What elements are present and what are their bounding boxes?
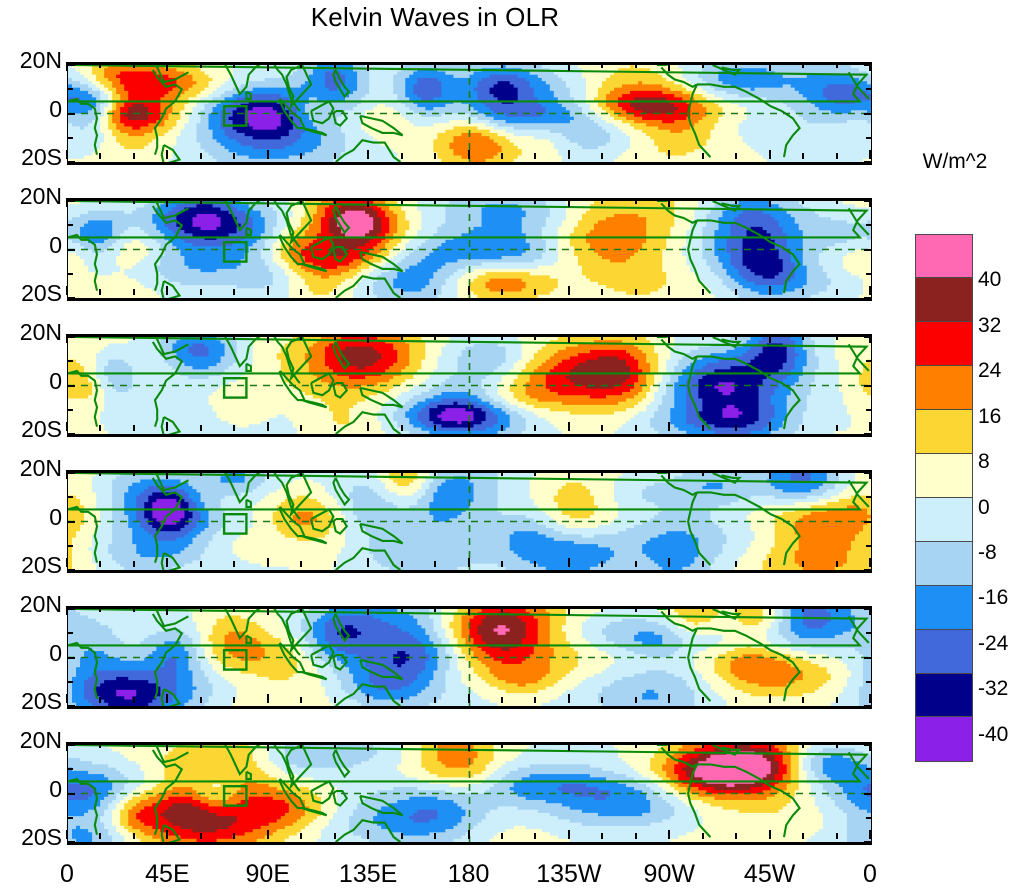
xtick-bottom bbox=[635, 289, 637, 295]
xtick-top bbox=[468, 62, 470, 71]
xtick-bottom bbox=[468, 422, 470, 431]
colorbar-swatch[interactable] bbox=[915, 365, 973, 410]
ytick-left bbox=[68, 249, 75, 251]
xtick-top bbox=[534, 742, 536, 748]
xtick-bottom bbox=[836, 561, 838, 567]
colorbar-ticklabel: -8 bbox=[978, 541, 997, 565]
xtick-top bbox=[668, 606, 670, 615]
xtick-top bbox=[334, 334, 336, 340]
xtick-top bbox=[133, 470, 135, 476]
xtick-top bbox=[501, 470, 503, 476]
xtick-bottom bbox=[300, 425, 302, 431]
ytick-right bbox=[864, 161, 871, 163]
xtick-top bbox=[434, 334, 436, 340]
y-axis-ticklabels-5: 20N020S bbox=[0, 606, 62, 703]
xtick-bottom bbox=[668, 422, 670, 431]
ytick-left bbox=[68, 657, 75, 659]
xtick-top bbox=[233, 198, 235, 204]
xtick-bottom bbox=[468, 286, 470, 295]
panel-plot-2 bbox=[67, 198, 872, 301]
xtick-top bbox=[401, 198, 403, 204]
figure-canvas: Kelvin Waves in OLR 045E90E135E180135W90… bbox=[0, 0, 1021, 887]
xtick-bottom bbox=[233, 561, 235, 567]
xtick-top bbox=[133, 742, 135, 748]
xtick-top bbox=[668, 470, 670, 479]
xtick-top bbox=[635, 198, 637, 204]
xtick-top bbox=[601, 198, 603, 204]
ytick-left bbox=[68, 521, 75, 523]
ytick-left bbox=[68, 64, 75, 66]
xtick-top bbox=[99, 62, 101, 68]
ytick-right-minor bbox=[866, 137, 871, 139]
xtick-top bbox=[869, 606, 871, 615]
xtick-bottom bbox=[434, 153, 436, 159]
xtick-top bbox=[501, 742, 503, 748]
xtick-top bbox=[668, 198, 670, 207]
xtick-top bbox=[401, 334, 403, 340]
xtick-top bbox=[534, 198, 536, 204]
map-panel-6 bbox=[67, 718, 870, 839]
xtick-top bbox=[635, 470, 637, 476]
xtick-bottom bbox=[233, 697, 235, 703]
xtick-bottom bbox=[601, 833, 603, 839]
ytick-left bbox=[68, 161, 75, 163]
xtick-top bbox=[769, 606, 771, 615]
ytick-left-minor bbox=[68, 545, 73, 547]
map-panel-4 bbox=[67, 446, 870, 567]
xtick-top bbox=[534, 62, 536, 68]
ytick-right-minor bbox=[866, 88, 871, 90]
ytick-left bbox=[68, 200, 75, 202]
xtick-top bbox=[735, 62, 737, 68]
ytick-left bbox=[68, 336, 75, 338]
ytick-left-minor bbox=[68, 88, 73, 90]
xtick-bottom bbox=[233, 425, 235, 431]
xtick-top bbox=[166, 606, 168, 615]
xtick-bottom bbox=[99, 289, 101, 295]
panel-header-1 bbox=[67, 37, 870, 63]
ytick-left bbox=[68, 793, 75, 795]
xtick-bottom bbox=[267, 422, 269, 431]
xtick-bottom bbox=[300, 153, 302, 159]
xtick-bottom bbox=[99, 153, 101, 159]
xtick-top bbox=[300, 606, 302, 612]
xtick-bottom bbox=[99, 425, 101, 431]
xtick-bottom bbox=[267, 558, 269, 567]
ytick-right bbox=[864, 385, 871, 387]
panel-plot-3 bbox=[67, 334, 872, 437]
y-ticklabel: 20N bbox=[20, 455, 62, 482]
x-ticklabel: 45E bbox=[145, 860, 189, 889]
y-axis-ticklabels-3: 20N020S bbox=[0, 334, 62, 431]
ytick-right-minor bbox=[866, 632, 871, 634]
y-ticklabel: 0 bbox=[49, 504, 62, 531]
xtick-bottom bbox=[233, 289, 235, 295]
xtick-top bbox=[99, 606, 101, 612]
xtick-top bbox=[802, 470, 804, 476]
xtick-bottom bbox=[267, 694, 269, 703]
y-axis-ticklabels-6: 20N020S bbox=[0, 742, 62, 839]
x-ticklabel: 180 bbox=[448, 860, 490, 889]
xtick-top bbox=[668, 742, 670, 751]
xtick-bottom bbox=[668, 830, 670, 839]
xtick-bottom bbox=[869, 558, 871, 567]
xtick-bottom bbox=[869, 694, 871, 703]
xtick-bottom bbox=[568, 558, 570, 567]
xtick-top bbox=[501, 334, 503, 340]
xtick-bottom bbox=[367, 558, 369, 567]
xtick-bottom bbox=[501, 561, 503, 567]
xtick-bottom bbox=[200, 833, 202, 839]
colorbar-ticklabel: -16 bbox=[978, 586, 1008, 610]
panel-header-4 bbox=[67, 445, 870, 471]
ytick-left-minor bbox=[68, 137, 73, 139]
y-ticklabel: 20N bbox=[20, 591, 62, 618]
y-ticklabel: 20S bbox=[21, 280, 62, 307]
xtick-bottom bbox=[66, 830, 68, 839]
xtick-bottom bbox=[66, 422, 68, 431]
xtick-bottom bbox=[735, 153, 737, 159]
xtick-bottom bbox=[133, 153, 135, 159]
map-panel-5 bbox=[67, 582, 870, 703]
xtick-bottom bbox=[334, 697, 336, 703]
y-axis-ticklabels-1: 20N020S bbox=[0, 62, 62, 159]
xtick-top bbox=[702, 742, 704, 748]
xtick-top bbox=[233, 470, 235, 476]
ytick-right bbox=[864, 569, 871, 571]
xtick-bottom bbox=[568, 286, 570, 295]
ytick-right bbox=[864, 297, 871, 299]
xtick-bottom bbox=[200, 153, 202, 159]
xtick-top bbox=[267, 606, 269, 615]
xtick-top bbox=[802, 62, 804, 68]
xtick-bottom bbox=[468, 558, 470, 567]
xtick-bottom bbox=[166, 286, 168, 295]
ytick-left bbox=[68, 744, 75, 746]
xtick-bottom bbox=[401, 833, 403, 839]
xtick-top bbox=[869, 198, 871, 207]
xtick-top bbox=[267, 742, 269, 751]
xtick-bottom bbox=[735, 833, 737, 839]
xtick-top bbox=[635, 334, 637, 340]
xtick-bottom bbox=[702, 425, 704, 431]
ytick-right-minor bbox=[866, 273, 871, 275]
xtick-bottom bbox=[401, 425, 403, 431]
xtick-bottom bbox=[434, 425, 436, 431]
xtick-top bbox=[401, 62, 403, 68]
xtick-top bbox=[568, 198, 570, 207]
xtick-bottom bbox=[401, 289, 403, 295]
xtick-top bbox=[367, 198, 369, 207]
xtick-top bbox=[233, 334, 235, 340]
colorbar-swatch[interactable] bbox=[915, 234, 973, 279]
xtick-bottom bbox=[534, 833, 536, 839]
y-ticklabel: 20S bbox=[21, 144, 62, 171]
colorbar-ticklabel: -32 bbox=[978, 677, 1008, 701]
xtick-top bbox=[769, 334, 771, 343]
colorbar-swatch[interactable] bbox=[915, 673, 973, 718]
xtick-top bbox=[668, 334, 670, 343]
xtick-top bbox=[869, 334, 871, 343]
colorbar-swatch[interactable] bbox=[915, 716, 973, 761]
colorbar-swatch[interactable] bbox=[915, 453, 973, 498]
y-ticklabel: 20N bbox=[20, 183, 62, 210]
xtick-top bbox=[601, 62, 603, 68]
panel-header-2 bbox=[67, 173, 870, 199]
xtick-top bbox=[434, 742, 436, 748]
y-ticklabel: 20S bbox=[21, 416, 62, 443]
map-panel-2 bbox=[67, 174, 870, 295]
xtick-bottom bbox=[601, 425, 603, 431]
xtick-top bbox=[334, 470, 336, 476]
xtick-bottom bbox=[568, 694, 570, 703]
xtick-bottom bbox=[869, 422, 871, 431]
xtick-bottom bbox=[702, 697, 704, 703]
ytick-left-minor bbox=[68, 224, 73, 226]
y-ticklabel: 0 bbox=[49, 232, 62, 259]
xtick-bottom bbox=[367, 150, 369, 159]
xtick-bottom bbox=[802, 697, 804, 703]
colorbar-swatch[interactable] bbox=[915, 277, 973, 322]
xtick-top bbox=[836, 742, 838, 748]
xtick-top bbox=[468, 334, 470, 343]
xtick-bottom bbox=[468, 694, 470, 703]
xtick-top bbox=[99, 334, 101, 340]
x-ticklabel: 135W bbox=[536, 860, 601, 889]
xtick-bottom bbox=[635, 425, 637, 431]
xtick-bottom bbox=[334, 561, 336, 567]
xtick-top bbox=[99, 742, 101, 748]
colorbar-swatch[interactable] bbox=[915, 497, 973, 542]
xtick-bottom bbox=[300, 833, 302, 839]
ytick-right-minor bbox=[866, 681, 871, 683]
xtick-bottom bbox=[769, 150, 771, 159]
xtick-top bbox=[434, 470, 436, 476]
xtick-bottom bbox=[869, 286, 871, 295]
xtick-top bbox=[702, 62, 704, 68]
xtick-top bbox=[133, 198, 135, 204]
xtick-bottom bbox=[702, 289, 704, 295]
xtick-top bbox=[836, 62, 838, 68]
colorbar[interactable] bbox=[915, 235, 973, 762]
xtick-bottom bbox=[769, 694, 771, 703]
xtick-top bbox=[300, 470, 302, 476]
xtick-top bbox=[802, 742, 804, 748]
panel-header-6 bbox=[67, 717, 870, 743]
xtick-top bbox=[601, 606, 603, 612]
xtick-top bbox=[836, 606, 838, 612]
xtick-bottom bbox=[802, 561, 804, 567]
xtick-bottom bbox=[836, 697, 838, 703]
xtick-top bbox=[501, 62, 503, 68]
xtick-bottom bbox=[702, 833, 704, 839]
xtick-bottom bbox=[501, 153, 503, 159]
xtick-bottom bbox=[233, 153, 235, 159]
xtick-bottom bbox=[200, 561, 202, 567]
x-ticklabel: 135E bbox=[339, 860, 397, 889]
ytick-right bbox=[864, 521, 871, 523]
y-ticklabel: 20N bbox=[20, 47, 62, 74]
xtick-bottom bbox=[601, 153, 603, 159]
xtick-bottom bbox=[334, 289, 336, 295]
xtick-bottom bbox=[367, 830, 369, 839]
panel-plot-1 bbox=[67, 62, 872, 165]
colorbar-unit-label: W/m^2 bbox=[900, 150, 1010, 174]
y-ticklabel: 20S bbox=[21, 824, 62, 851]
xtick-bottom bbox=[769, 286, 771, 295]
xtick-bottom bbox=[802, 289, 804, 295]
xtick-top bbox=[434, 62, 436, 68]
xtick-top bbox=[267, 334, 269, 343]
xtick-bottom bbox=[200, 697, 202, 703]
ytick-right-minor bbox=[866, 768, 871, 770]
y-axis-ticklabels-4: 20N020S bbox=[0, 470, 62, 567]
xtick-top bbox=[468, 470, 470, 479]
xtick-bottom bbox=[601, 697, 603, 703]
xtick-top bbox=[735, 470, 737, 476]
xtick-bottom bbox=[534, 561, 536, 567]
colorbar-swatch[interactable] bbox=[915, 409, 973, 454]
ytick-right-minor bbox=[866, 496, 871, 498]
colorbar-swatch[interactable] bbox=[915, 541, 973, 586]
ytick-left-minor bbox=[68, 360, 73, 362]
xtick-top bbox=[200, 470, 202, 476]
xtick-top bbox=[66, 334, 68, 343]
ytick-right bbox=[864, 249, 871, 251]
xtick-bottom bbox=[869, 150, 871, 159]
colorbar-ticklabel: 0 bbox=[978, 496, 990, 520]
xtick-top bbox=[200, 334, 202, 340]
xtick-bottom bbox=[836, 833, 838, 839]
xtick-top bbox=[601, 334, 603, 340]
xtick-bottom bbox=[334, 153, 336, 159]
xtick-top bbox=[568, 470, 570, 479]
xtick-top bbox=[836, 198, 838, 204]
xtick-bottom bbox=[233, 833, 235, 839]
xtick-bottom bbox=[133, 289, 135, 295]
xtick-bottom bbox=[434, 289, 436, 295]
xtick-top bbox=[836, 334, 838, 340]
xtick-top bbox=[233, 742, 235, 748]
xtick-bottom bbox=[769, 422, 771, 431]
colorbar-swatch[interactable] bbox=[915, 321, 973, 366]
xtick-top bbox=[267, 62, 269, 71]
xtick-bottom bbox=[802, 425, 804, 431]
xtick-top bbox=[769, 742, 771, 751]
xtick-bottom bbox=[568, 150, 570, 159]
xtick-bottom bbox=[434, 833, 436, 839]
xtick-bottom bbox=[166, 422, 168, 431]
xtick-top bbox=[267, 198, 269, 207]
xtick-top bbox=[334, 62, 336, 68]
xtick-bottom bbox=[166, 150, 168, 159]
ytick-left bbox=[68, 433, 75, 435]
xtick-top bbox=[166, 62, 168, 71]
xtick-top bbox=[200, 198, 202, 204]
xtick-top bbox=[233, 606, 235, 612]
xtick-bottom bbox=[401, 153, 403, 159]
x-ticklabel: 90E bbox=[246, 860, 290, 889]
ytick-left-minor bbox=[68, 496, 73, 498]
xtick-bottom bbox=[501, 833, 503, 839]
colorbar-swatch[interactable] bbox=[915, 629, 973, 674]
xtick-top bbox=[568, 742, 570, 751]
xtick-bottom bbox=[836, 289, 838, 295]
ytick-right-minor bbox=[866, 545, 871, 547]
xtick-bottom bbox=[836, 425, 838, 431]
xtick-bottom bbox=[99, 561, 101, 567]
xtick-bottom bbox=[601, 561, 603, 567]
y-ticklabel: 20S bbox=[21, 552, 62, 579]
xtick-bottom bbox=[367, 286, 369, 295]
ytick-right bbox=[864, 841, 871, 843]
xtick-top bbox=[601, 470, 603, 476]
xtick-top bbox=[668, 62, 670, 71]
xtick-top bbox=[468, 742, 470, 751]
xtick-bottom bbox=[300, 697, 302, 703]
y-ticklabel: 20N bbox=[20, 727, 62, 754]
xtick-top bbox=[133, 62, 135, 68]
xtick-top bbox=[568, 606, 570, 615]
map-panel-3 bbox=[67, 310, 870, 431]
xtick-top bbox=[300, 334, 302, 340]
xtick-top bbox=[367, 334, 369, 343]
xtick-top bbox=[401, 606, 403, 612]
xtick-top bbox=[66, 198, 68, 207]
xtick-top bbox=[702, 334, 704, 340]
xtick-bottom bbox=[501, 697, 503, 703]
xtick-bottom bbox=[568, 830, 570, 839]
xtick-bottom bbox=[635, 697, 637, 703]
map-panel-1 bbox=[67, 38, 870, 159]
xtick-bottom bbox=[769, 558, 771, 567]
xtick-top bbox=[802, 198, 804, 204]
ytick-right bbox=[864, 113, 871, 115]
panel-header-5 bbox=[67, 581, 870, 607]
ytick-right-minor bbox=[866, 360, 871, 362]
xtick-top bbox=[200, 606, 202, 612]
colorbar-swatch[interactable] bbox=[915, 585, 973, 630]
y-ticklabel: 0 bbox=[49, 640, 62, 667]
xtick-bottom bbox=[166, 558, 168, 567]
x-ticklabel: 0 bbox=[60, 860, 74, 889]
xtick-top bbox=[367, 62, 369, 71]
xtick-bottom bbox=[735, 697, 737, 703]
xtick-bottom bbox=[735, 425, 737, 431]
xtick-top bbox=[300, 742, 302, 748]
x-axis-ticklabels: 045E90E135E180135W90W45W0 bbox=[67, 860, 870, 890]
xtick-bottom bbox=[735, 561, 737, 567]
xtick-bottom bbox=[99, 697, 101, 703]
xtick-top bbox=[534, 606, 536, 612]
colorbar-ticklabel: -40 bbox=[978, 723, 1008, 747]
xtick-top bbox=[99, 198, 101, 204]
xtick-top bbox=[166, 742, 168, 751]
xtick-top bbox=[769, 62, 771, 71]
ytick-right-minor bbox=[866, 224, 871, 226]
xtick-bottom bbox=[702, 561, 704, 567]
ytick-left-minor bbox=[68, 632, 73, 634]
xtick-bottom bbox=[668, 150, 670, 159]
xtick-top bbox=[334, 742, 336, 748]
xtick-top bbox=[501, 606, 503, 612]
xtick-top bbox=[735, 742, 737, 748]
xtick-bottom bbox=[66, 286, 68, 295]
xtick-bottom bbox=[735, 289, 737, 295]
xtick-bottom bbox=[334, 833, 336, 839]
ytick-left bbox=[68, 705, 75, 707]
ytick-left bbox=[68, 841, 75, 843]
